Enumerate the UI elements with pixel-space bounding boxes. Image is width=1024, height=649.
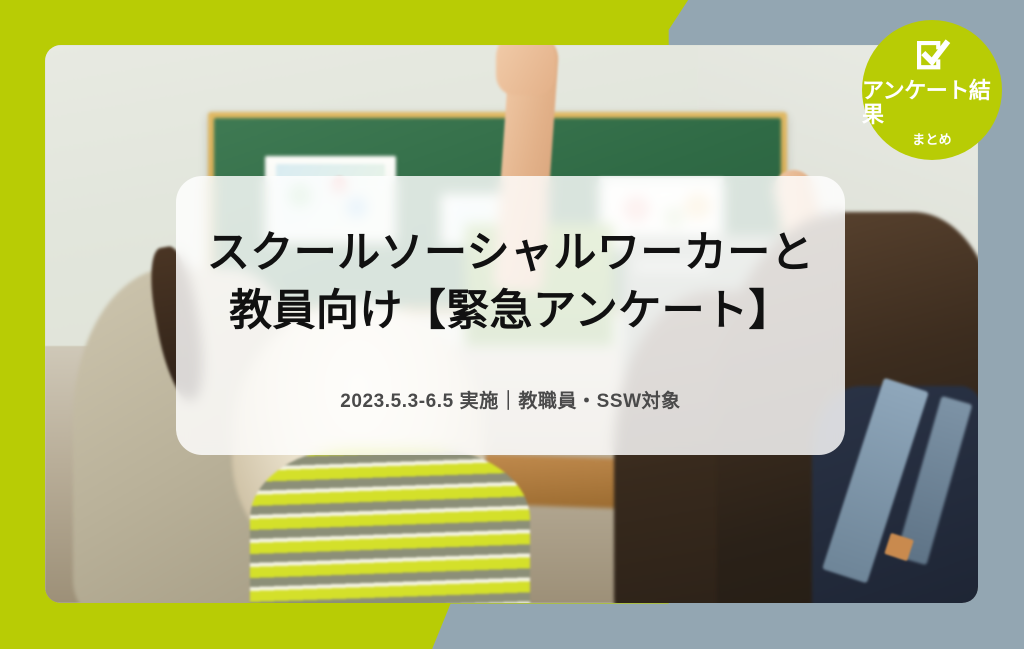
title-card: スクールソーシャルワーカーと 教員向け【緊急アンケート】 2023.5.3-6.…: [176, 176, 845, 455]
badge-main-label: アンケート結果: [862, 79, 1002, 125]
banner-stage: スクールソーシャルワーカーと 教員向け【緊急アンケート】 2023.5.3-6.…: [0, 0, 1024, 649]
page-subtitle: 2023.5.3-6.5 実施｜教職員・SSW対象: [176, 386, 845, 413]
checkbox-check-icon: [912, 36, 952, 76]
badge-sub-label: まとめ: [912, 129, 952, 148]
page-title: スクールソーシャルワーカーと 教員向け【緊急アンケート】: [176, 224, 845, 340]
survey-result-badge: アンケート結果 まとめ: [862, 20, 1002, 160]
student-striped-shirt: [250, 447, 530, 603]
raised-hand-left: [496, 45, 556, 95]
